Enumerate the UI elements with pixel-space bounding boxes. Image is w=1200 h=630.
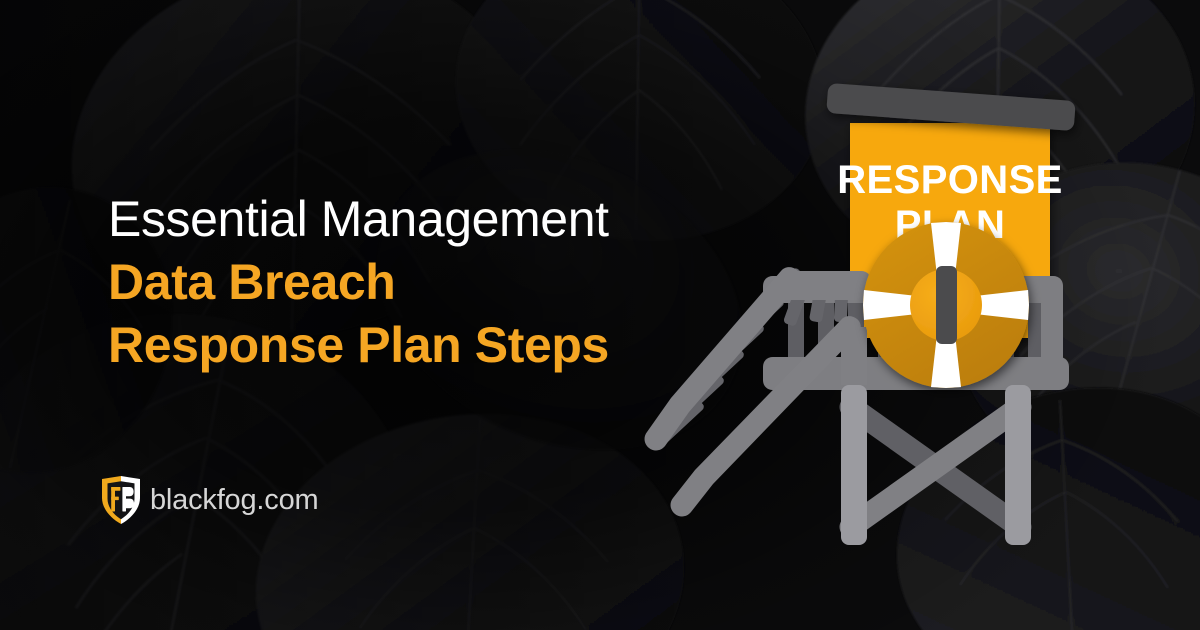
legs-and-brace bbox=[840, 385, 1032, 545]
logo-wordmark: blackfog.com bbox=[150, 486, 318, 515]
sign-line-1: RESPONSE bbox=[837, 158, 1063, 202]
ladder-top-connector bbox=[781, 271, 871, 300]
blackfog-shield-icon bbox=[102, 476, 140, 524]
ladder-rail-lower bbox=[671, 316, 861, 516]
ladder bbox=[645, 267, 871, 517]
brand-logo[interactable]: blackfog.com bbox=[102, 476, 318, 524]
life-ring bbox=[863, 222, 1029, 388]
life-ring-center-post bbox=[936, 266, 957, 344]
leg-left bbox=[841, 385, 867, 545]
headline-line-2: Data Breach bbox=[108, 251, 728, 314]
headline-line-1: Essential Management bbox=[108, 188, 728, 251]
ladder-landing bbox=[841, 327, 867, 385]
leg-right bbox=[1005, 385, 1031, 545]
social-card: Essential Management Data Breach Respons… bbox=[0, 0, 1200, 630]
lifeguard-tower-svg: RESPONSE PLAN bbox=[655, 80, 1075, 550]
lifeguard-tower-illustration: RESPONSE PLAN bbox=[655, 80, 1075, 550]
headline-line-3: Response Plan Steps bbox=[108, 314, 728, 377]
headline: Essential Management Data Breach Respons… bbox=[108, 188, 728, 377]
